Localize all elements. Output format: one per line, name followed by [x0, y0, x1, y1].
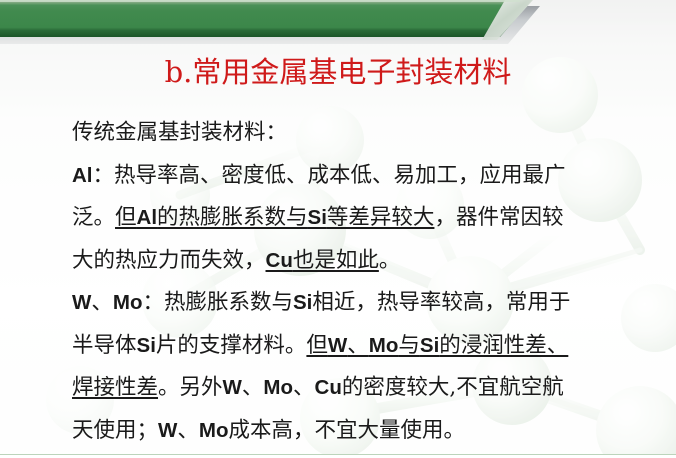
text-run: 、 — [91, 290, 113, 315]
text-run: Al — [137, 206, 158, 229]
text-run: 片的支撑材料。 — [156, 333, 307, 358]
text-run: 泛。 — [72, 205, 115, 230]
text-run: ，器件常因较 — [434, 205, 563, 230]
text-run: 的浸润性差、 — [439, 333, 568, 358]
text-run: Al — [72, 164, 93, 187]
text-run: 。另外 — [158, 375, 223, 400]
text-run: 大的热应力而失效， — [72, 248, 266, 273]
text-run: 但 — [115, 205, 137, 230]
text-run: 、 — [293, 375, 315, 400]
text-line-1: 传统金属基封装材料： — [72, 112, 652, 155]
text-line-7: 焊接性差。另外W、Mo、Cu的密度较大,不宜航空航 — [72, 367, 652, 410]
text-line-2: Al：热导率高、密度低、成本低、易加工，应用最广 — [72, 155, 652, 198]
body-text-block: 传统金属基封装材料： Al：热导率高、密度低、成本低、易加工，应用最广 泛。但A… — [72, 112, 652, 452]
text-run: Cu — [266, 249, 293, 272]
text-run: 但 — [306, 333, 328, 358]
text-run: W — [158, 419, 177, 442]
text-run: 传统金属基封装材料： — [72, 120, 287, 145]
text-run: W — [72, 291, 91, 314]
text-run: W — [328, 334, 347, 357]
text-run: 。 — [379, 248, 401, 273]
text-run: Mo — [369, 334, 399, 357]
text-run: 等差异较大 — [327, 205, 435, 230]
text-run: ：热膨胀系数与 — [142, 290, 293, 315]
text-run: 焊接性差 — [72, 375, 158, 400]
text-line-5: W、Mo：热膨胀系数与Si相近，热导率较高，常用于 — [72, 282, 652, 325]
text-run: 相近，热导率较高，常用于 — [312, 290, 570, 315]
text-run: 半导体 — [72, 333, 137, 358]
slide-canvas: b.常用金属基电子封装材料 传统金属基封装材料： Al：热导率高、密度低、成本低… — [0, 0, 676, 458]
text-run: Mo — [113, 291, 143, 314]
text-run: 的热膨胀系数与 — [157, 205, 308, 230]
page-title: b.常用金属基电子封装材料 — [0, 52, 676, 92]
text-run: Si — [308, 206, 327, 229]
text-line-6: 半导体Si片的支撑材料。但W、Mo与Si的浸润性差、 — [72, 325, 652, 368]
text-line-8: 天使用；W、Mo成本高，不宜大量使用。 — [72, 410, 652, 453]
text-run: 的密度较大,不宜航空航 — [342, 375, 564, 400]
text-run: W — [223, 376, 242, 399]
text-run: Cu — [315, 376, 342, 399]
text-run: 也是如此 — [293, 248, 379, 273]
text-run: 、 — [177, 418, 199, 443]
top-green-banner — [0, 0, 676, 52]
text-run: 、 — [347, 333, 369, 358]
text-run: Mo — [263, 376, 293, 399]
text-line-3: 泛。但Al的热膨胀系数与Si等差异较大，器件常因较 — [72, 197, 652, 240]
text-run: Mo — [199, 419, 229, 442]
text-run: ：热导率高、密度低、成本低、易加工，应用最广 — [93, 163, 566, 188]
text-run: Si — [137, 334, 156, 357]
text-run: 成本高，不宜大量使用。 — [229, 418, 466, 443]
text-run: 与 — [398, 333, 420, 358]
text-run: 、 — [242, 375, 264, 400]
text-line-4: 大的热应力而失效，Cu也是如此。 — [72, 240, 652, 283]
text-run: Si — [293, 291, 312, 314]
text-run: 天使用； — [72, 418, 158, 443]
text-run: Si — [420, 334, 439, 357]
